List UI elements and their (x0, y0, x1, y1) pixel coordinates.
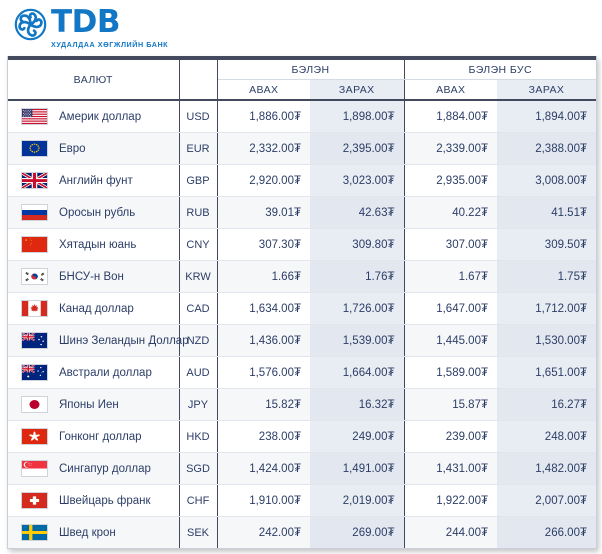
currency-name-cell: Гонконг доллар (8, 421, 179, 453)
noncash-buy-cell: 1,647.00₮ (404, 293, 497, 325)
currency-code-cell: AUD (179, 357, 217, 389)
noncash-buy-cell: 1,922.00₮ (404, 485, 497, 517)
currency-code-cell: SGD (179, 453, 217, 485)
currency-code-cell: CHF (179, 485, 217, 517)
cash-sell-cell: 249.00₮ (310, 421, 404, 453)
currency-name: Оросын рубль (59, 207, 135, 219)
currency-name-cell: Шинэ Зеландын Доллар (8, 325, 179, 357)
noncash-buy-cell: 1,445.00₮ (404, 325, 497, 357)
currency-name-cell: Сингапур доллар (8, 453, 179, 485)
table-row: ЕвроEUR2,332.00₮2,395.00₮2,339.00₮2,388.… (8, 133, 596, 165)
cash-buy-cell: 242.00₮ (217, 517, 310, 549)
currency-code-cell: HKD (179, 421, 217, 453)
flag-eu-icon (21, 140, 48, 157)
flag-cn-icon (21, 236, 48, 253)
cash-buy-cell: 15.82₮ (217, 389, 310, 421)
noncash-buy-cell: 1,431.00₮ (404, 453, 497, 485)
column-header-code (179, 60, 217, 100)
table-row: Австрали долларAUD1,576.00₮1,664.00₮1,58… (8, 357, 596, 389)
table-row: Шинэ Зеландын ДолларNZD1,436.00₮1,539.00… (8, 325, 596, 357)
exchange-rate-table-container: ВАЛЮТ БЭЛЭН БЭЛЭН БУС АВАХ ЗАРАХ АВАХ ЗА… (7, 56, 597, 549)
currency-name-cell: Австрали доллар (8, 357, 179, 389)
noncash-sell-cell: 2,007.00₮ (497, 485, 596, 517)
cash-buy-cell: 2,920.00₮ (217, 165, 310, 197)
cash-buy-cell: 307.30₮ (217, 229, 310, 261)
cash-sell-cell: 1,898.00₮ (310, 100, 404, 133)
currency-name: Австрали доллар (59, 367, 152, 379)
currency-name: Швейцарь франк (59, 495, 151, 507)
noncash-sell-cell: 2,388.00₮ (497, 133, 596, 165)
cash-buy-cell: 2,332.00₮ (217, 133, 310, 165)
table-row: Английн фунтGBP2,920.00₮3,023.00₮2,935.0… (8, 165, 596, 197)
currency-name-cell: БНСУ-н Вон (8, 261, 179, 293)
currency-name-cell: Евро (8, 133, 179, 165)
cash-sell-cell: 2,019.00₮ (310, 485, 404, 517)
table-header: ВАЛЮТ БЭЛЭН БЭЛЭН БУС АВАХ ЗАРАХ АВАХ ЗА… (8, 56, 596, 100)
noncash-sell-cell: 1,894.00₮ (497, 100, 596, 133)
noncash-buy-cell: 244.00₮ (404, 517, 497, 549)
currency-name: Евро (59, 143, 86, 155)
table-row: Сингапур долларSGD1,424.00₮1,491.00₮1,43… (8, 453, 596, 485)
cash-sell-cell: 1,539.00₮ (310, 325, 404, 357)
noncash-sell-cell: 309.50₮ (497, 229, 596, 261)
table-row: Швед кронSEK242.00₮269.00₮244.00₮266.00₮ (8, 517, 596, 549)
currency-name: Америк доллар (59, 111, 141, 123)
currency-name-cell: Английн фунт (8, 165, 179, 197)
currency-code-cell: CAD (179, 293, 217, 325)
noncash-buy-cell: 2,935.00₮ (404, 165, 497, 197)
currency-code-cell: RUB (179, 197, 217, 229)
flag-jp-icon (21, 396, 48, 413)
noncash-sell-cell: 41.51₮ (497, 197, 596, 229)
cash-sell-cell: 16.32₮ (310, 389, 404, 421)
flag-se-icon (21, 524, 48, 541)
currency-name: Гонконг доллар (59, 431, 142, 443)
noncash-sell-cell: 1,530.00₮ (497, 325, 596, 357)
cash-buy-cell: 1,910.00₮ (217, 485, 310, 517)
currency-code-cell: EUR (179, 133, 217, 165)
header-group-row: ВАЛЮТ БЭЛЭН БЭЛЭН БУС (8, 60, 596, 80)
cash-buy-cell: 1.66₮ (217, 261, 310, 293)
currency-code-cell: KRW (179, 261, 217, 293)
table-row: Хятадын юаньCNY307.30₮309.80₮307.00₮309.… (8, 229, 596, 261)
cash-buy-cell: 1,576.00₮ (217, 357, 310, 389)
currency-name-cell: Канад доллар (8, 293, 179, 325)
cash-sell-cell: 2,395.00₮ (310, 133, 404, 165)
cash-sell-cell: 3,023.00₮ (310, 165, 404, 197)
table-row: Америк долларUSD1,886.00₮1,898.00₮1,884.… (8, 100, 596, 133)
cash-buy-cell: 1,886.00₮ (217, 100, 310, 133)
cash-buy-cell: 1,634.00₮ (217, 293, 310, 325)
noncash-sell-cell: 1.75₮ (497, 261, 596, 293)
currency-name: Японы Иен (59, 399, 119, 411)
noncash-buy-cell: 307.00₮ (404, 229, 497, 261)
cash-buy-cell: 238.00₮ (217, 421, 310, 453)
flag-au-icon (21, 364, 48, 381)
currency-name-cell: Оросын рубль (8, 197, 179, 229)
currency-name: БНСУ-н Вон (59, 271, 124, 283)
currency-code-cell: GBP (179, 165, 217, 197)
currency-name: Хятадын юань (59, 239, 136, 251)
currency-name-cell: Швейцарь франк (8, 485, 179, 517)
cash-sell-cell: 1,664.00₮ (310, 357, 404, 389)
currency-name: Сингапур доллар (59, 463, 151, 475)
noncash-buy-cell: 1,884.00₮ (404, 100, 497, 133)
noncash-sell-cell: 16.27₮ (497, 389, 596, 421)
noncash-buy-cell: 1,589.00₮ (404, 357, 497, 389)
noncash-buy-cell: 15.87₮ (404, 389, 497, 421)
flag-gb-icon (21, 172, 48, 189)
flag-nz-icon (21, 332, 48, 349)
flag-sg-icon (21, 460, 48, 477)
currency-code-cell: CNY (179, 229, 217, 261)
tdb-logo[interactable]: TDB ХУДАЛДАА ХӨГЖЛИЙН БАНК (14, 7, 168, 49)
brand-name: TDB (51, 7, 168, 38)
column-header-cash-buy: АВАХ (217, 80, 310, 101)
noncash-buy-cell: 2,339.00₮ (404, 133, 497, 165)
brand-header: TDB ХУДАЛДАА ХӨГЖЛИЙН БАНК (0, 0, 602, 54)
column-header-cash-sell: ЗАРАХ (310, 80, 404, 101)
flag-kr-icon (21, 268, 48, 285)
exchange-rate-table: ВАЛЮТ БЭЛЭН БЭЛЭН БУС АВАХ ЗАРАХ АВАХ ЗА… (8, 56, 596, 548)
currency-name: Английн фунт (59, 175, 133, 187)
noncash-sell-cell: 1,712.00₮ (497, 293, 596, 325)
currency-name: Шинэ Зеландын Доллар (59, 335, 189, 347)
cash-sell-cell: 1.76₮ (310, 261, 404, 293)
flag-hk-icon (21, 428, 48, 445)
noncash-sell-cell: 3,008.00₮ (497, 165, 596, 197)
table-row: Японы ИенJPY15.82₮16.32₮15.87₮16.27₮ (8, 389, 596, 421)
noncash-buy-cell: 40.22₮ (404, 197, 497, 229)
brand-subtitle: ХУДАЛДАА ХӨГЖЛИЙН БАНК (51, 40, 168, 49)
noncash-sell-cell: 266.00₮ (497, 517, 596, 549)
currency-name: Канад доллар (59, 303, 134, 315)
currency-code-cell: JPY (179, 389, 217, 421)
cash-buy-cell: 1,436.00₮ (217, 325, 310, 357)
currency-code-cell: SEK (179, 517, 217, 549)
cash-buy-cell: 1,424.00₮ (217, 453, 310, 485)
noncash-sell-cell: 1,651.00₮ (497, 357, 596, 389)
noncash-buy-cell: 239.00₮ (404, 421, 497, 453)
currency-name-cell: Хятадын юань (8, 229, 179, 261)
table-body: Америк долларUSD1,886.00₮1,898.00₮1,884.… (8, 100, 596, 548)
flag-ch-icon (21, 492, 48, 509)
table-row: Канад долларCAD1,634.00₮1,726.00₮1,647.0… (8, 293, 596, 325)
column-group-cash: БЭЛЭН (217, 60, 404, 80)
cash-sell-cell: 1,726.00₮ (310, 293, 404, 325)
currency-code-cell: USD (179, 100, 217, 133)
table-row: Оросын рубльRUB39.01₮42.63₮40.22₮41.51₮ (8, 197, 596, 229)
table-row: Швейцарь франкCHF1,910.00₮2,019.00₮1,922… (8, 485, 596, 517)
currency-name-cell: Америк доллар (8, 100, 179, 133)
currency-name-cell: Японы Иен (8, 389, 179, 421)
swirl-circle-icon (14, 8, 47, 41)
cash-sell-cell: 1,491.00₮ (310, 453, 404, 485)
currency-name-cell: Швед крон (8, 517, 179, 549)
table-row: БНСУ-н ВонKRW1.66₮1.76₮1.67₮1.75₮ (8, 261, 596, 293)
currency-name: Швед крон (59, 527, 116, 539)
cash-sell-cell: 309.80₮ (310, 229, 404, 261)
column-header-currency: ВАЛЮТ (8, 60, 179, 100)
column-group-noncash: БЭЛЭН БУС (404, 60, 596, 80)
column-header-noncash-sell: ЗАРАХ (497, 80, 596, 101)
cash-sell-cell: 42.63₮ (310, 197, 404, 229)
flag-ca-icon (21, 300, 48, 317)
cash-sell-cell: 269.00₮ (310, 517, 404, 549)
noncash-sell-cell: 248.00₮ (497, 421, 596, 453)
noncash-sell-cell: 1,482.00₮ (497, 453, 596, 485)
noncash-buy-cell: 1.67₮ (404, 261, 497, 293)
column-header-noncash-buy: АВАХ (404, 80, 497, 101)
cash-buy-cell: 39.01₮ (217, 197, 310, 229)
exchange-rates-page: TDB ХУДАЛДАА ХӨГЖЛИЙН БАНК ВАЛЮТ БЭЛЭН Б… (0, 0, 602, 554)
flag-us-icon (21, 108, 48, 125)
flag-ru-icon (21, 204, 48, 221)
table-row: Гонконг долларHKD238.00₮249.00₮239.00₮24… (8, 421, 596, 453)
